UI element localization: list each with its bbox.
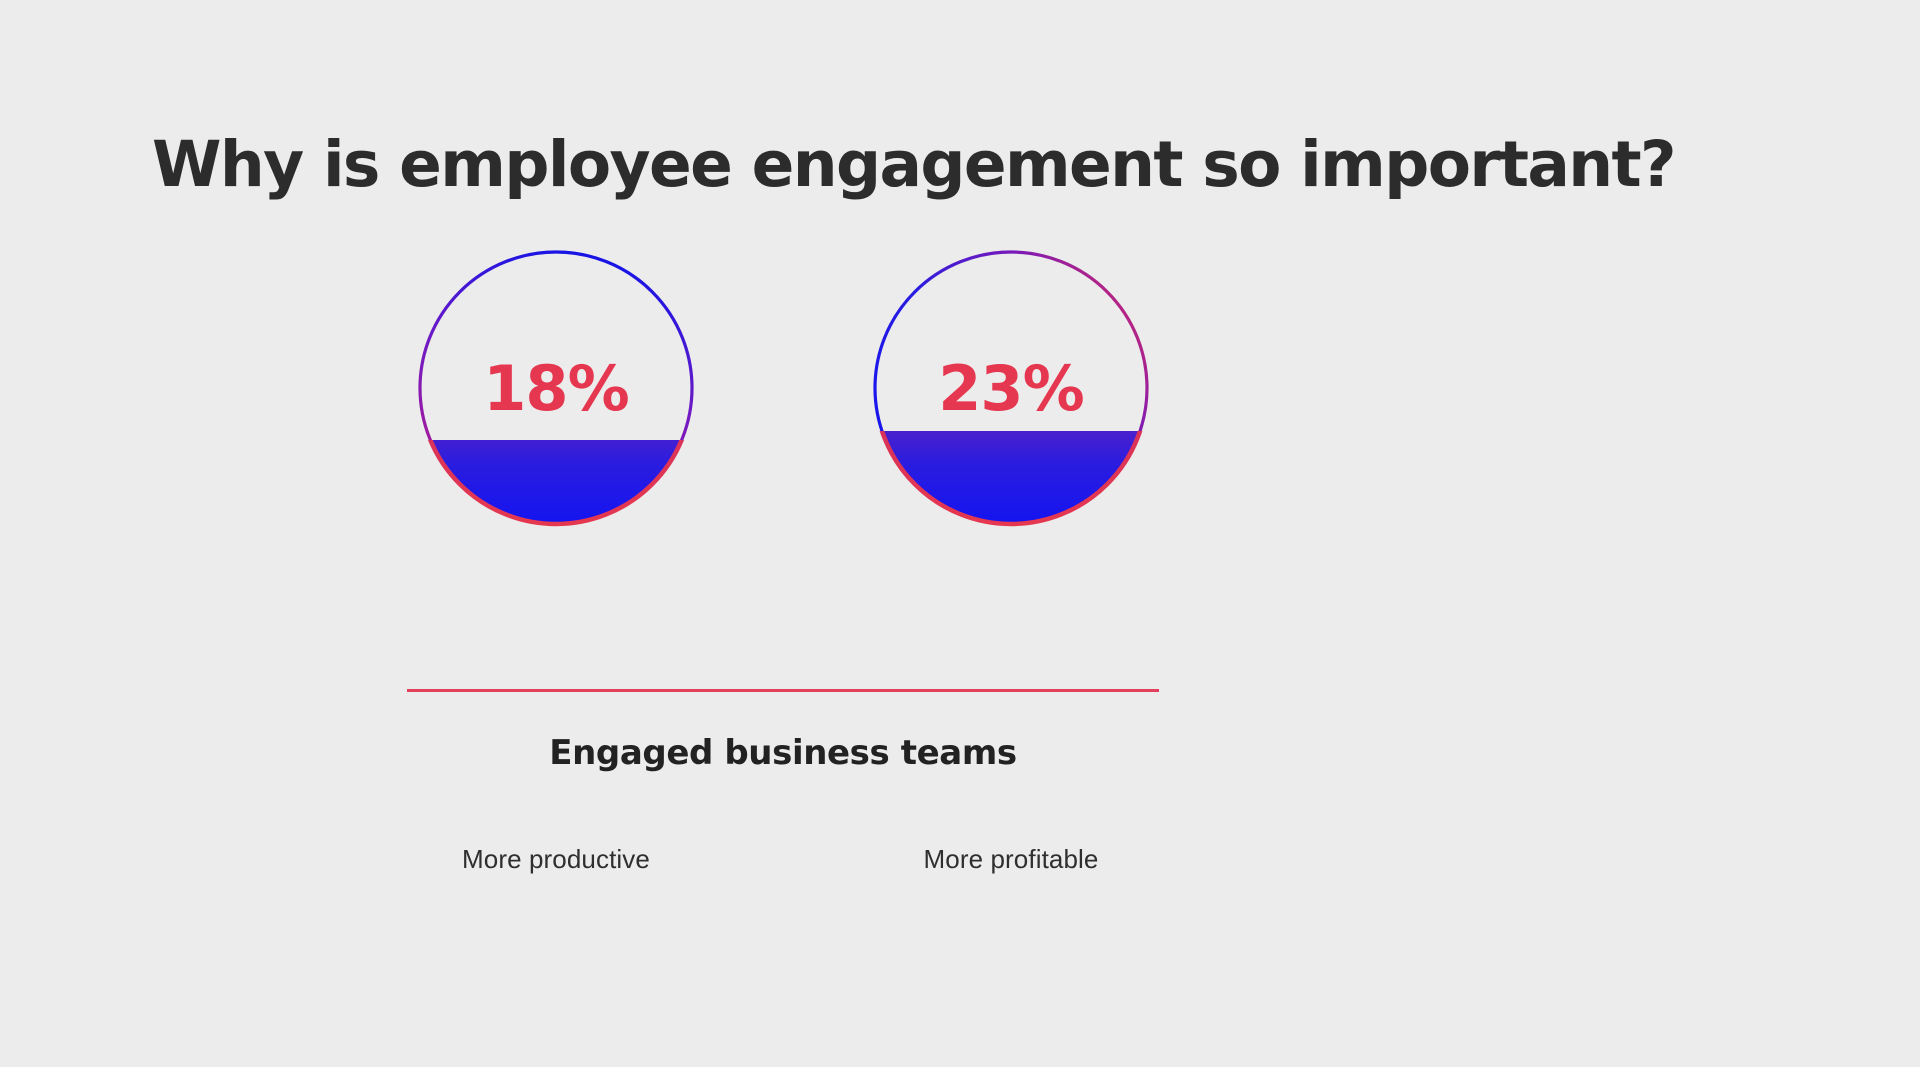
gauge-more-profitable[interactable]: 23% (871, 248, 1151, 528)
circle-gauge-icon (416, 248, 696, 528)
gauge-caption-more-profitable: More profitable (801, 844, 1221, 875)
gauge-caption-more-productive: More productive (346, 844, 766, 875)
gauge-more-productive[interactable]: 18% (416, 248, 696, 528)
gauge-group: 18% (0, 248, 1920, 668)
page-title: Why is employee engagement so important? (152, 130, 1572, 201)
circle-gauge-icon (871, 248, 1151, 528)
footer-label: Engaged business teams (407, 733, 1159, 773)
infographic-slide: Why is employee engagement so important? (0, 0, 1920, 1067)
horizontal-rule-icon (407, 689, 1159, 692)
